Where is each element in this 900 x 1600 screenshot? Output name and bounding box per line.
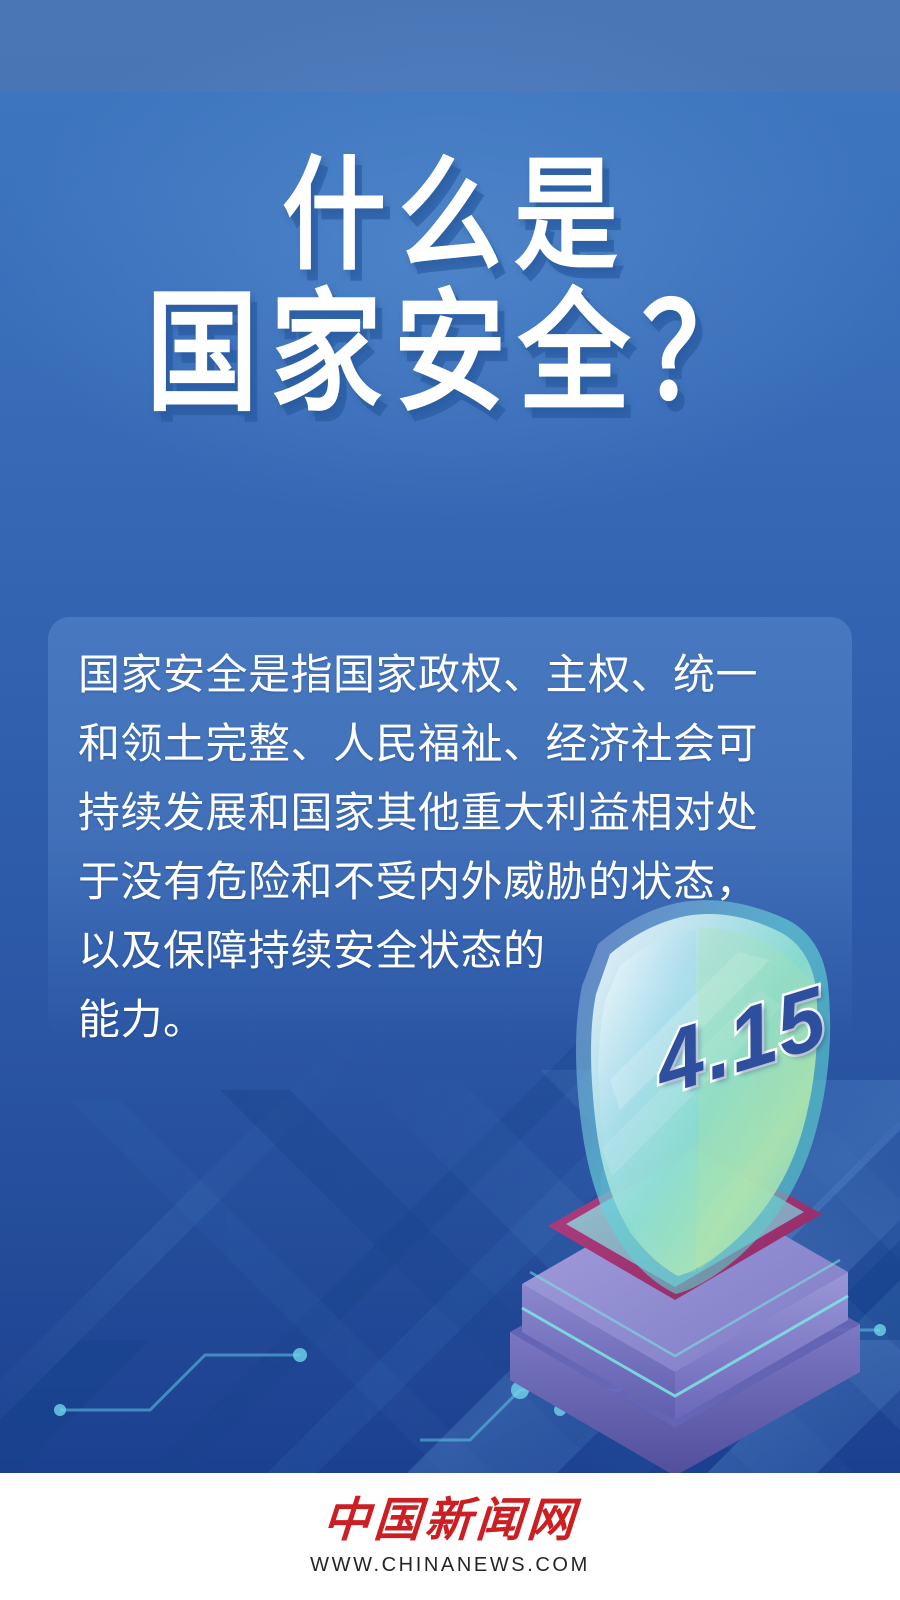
headline-line-2: 国家安全？	[0, 284, 900, 424]
circuit-trace-decoration	[0, 1080, 900, 1480]
page-title: 什么是 国家安全？	[0, 152, 900, 403]
quote-body-text: 国家安全是指国家政权、主权、统一 和领土完整、人民福祉、经济社会可 持续发展和国…	[78, 640, 818, 1054]
footer-bar: 中国新闻网 WWW.CHINANEWS.COM	[0, 1473, 900, 1600]
headline-line-1: 什么是	[0, 152, 900, 282]
isometric-pedestal	[510, 1142, 860, 1476]
poster-root: 什么是 国家安全？ 国家安全是指国家政权、主权、统一 和领土完整、人民福祉、经济…	[0, 0, 900, 1600]
chinanews-logo: 中国新闻网	[321, 1496, 579, 1545]
top-band	[0, 0, 900, 92]
footer-url: WWW.CHINANEWS.COM	[310, 1554, 590, 1577]
